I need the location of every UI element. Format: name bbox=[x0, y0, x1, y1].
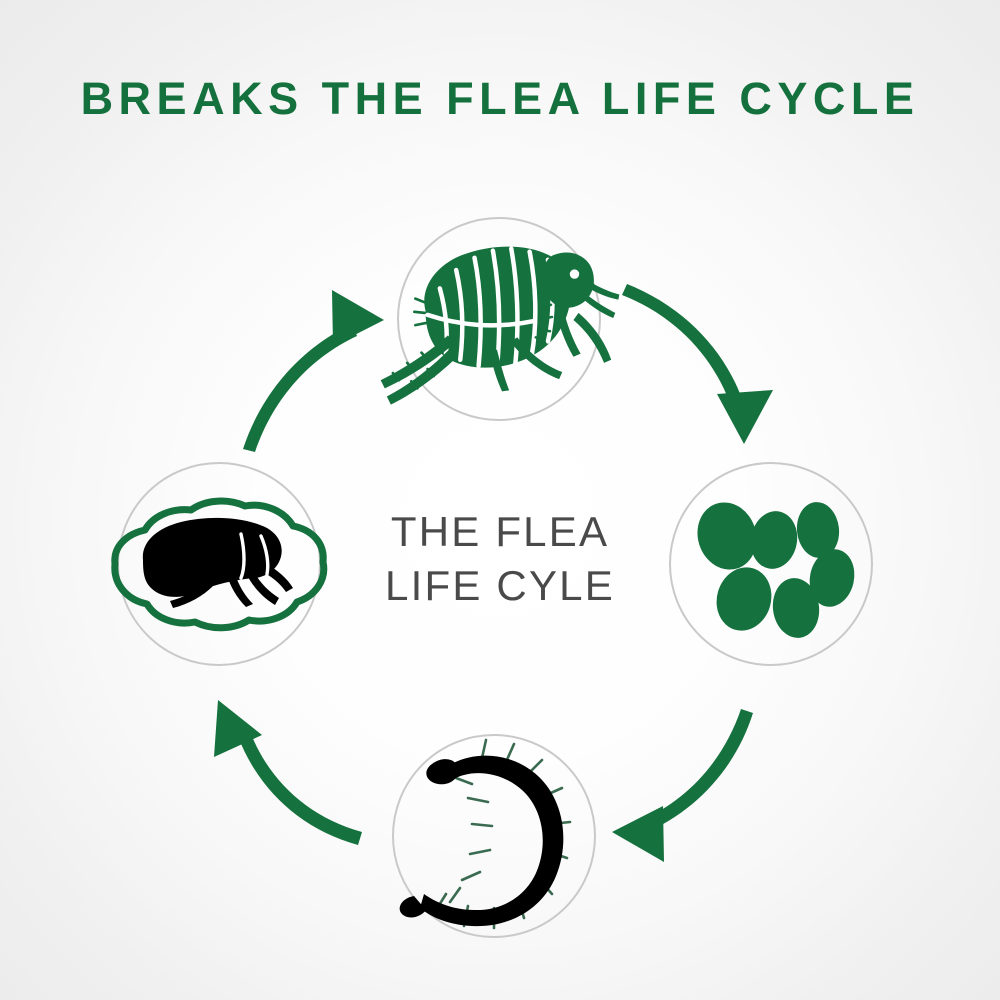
curved-arrow-icon-eggs-to-larva bbox=[612, 709, 753, 862]
center-label-line-2: LIFE CYLE bbox=[350, 559, 650, 613]
curved-arrow-icon-pupa-to-adult bbox=[243, 290, 384, 452]
stage-circle-larva[interactable] bbox=[392, 734, 596, 938]
stage-circle-adult[interactable] bbox=[397, 217, 601, 421]
center-label: THE FLEA LIFE CYLE bbox=[350, 505, 650, 613]
stage-circle-eggs[interactable] bbox=[669, 462, 873, 666]
stage-circle-pupa[interactable] bbox=[117, 462, 321, 666]
flea-life-cycle-poster: BREAKS THE FLEA LIFE CYCLE bbox=[0, 0, 1000, 1000]
curved-arrow-icon-adult-to-eggs bbox=[622, 284, 773, 444]
cycle-diagram: THE FLEA LIFE CYLE bbox=[0, 0, 1000, 1000]
center-label-line-1: THE FLEA bbox=[350, 505, 650, 559]
curved-arrow-icon-larva-to-pupa bbox=[214, 700, 362, 845]
